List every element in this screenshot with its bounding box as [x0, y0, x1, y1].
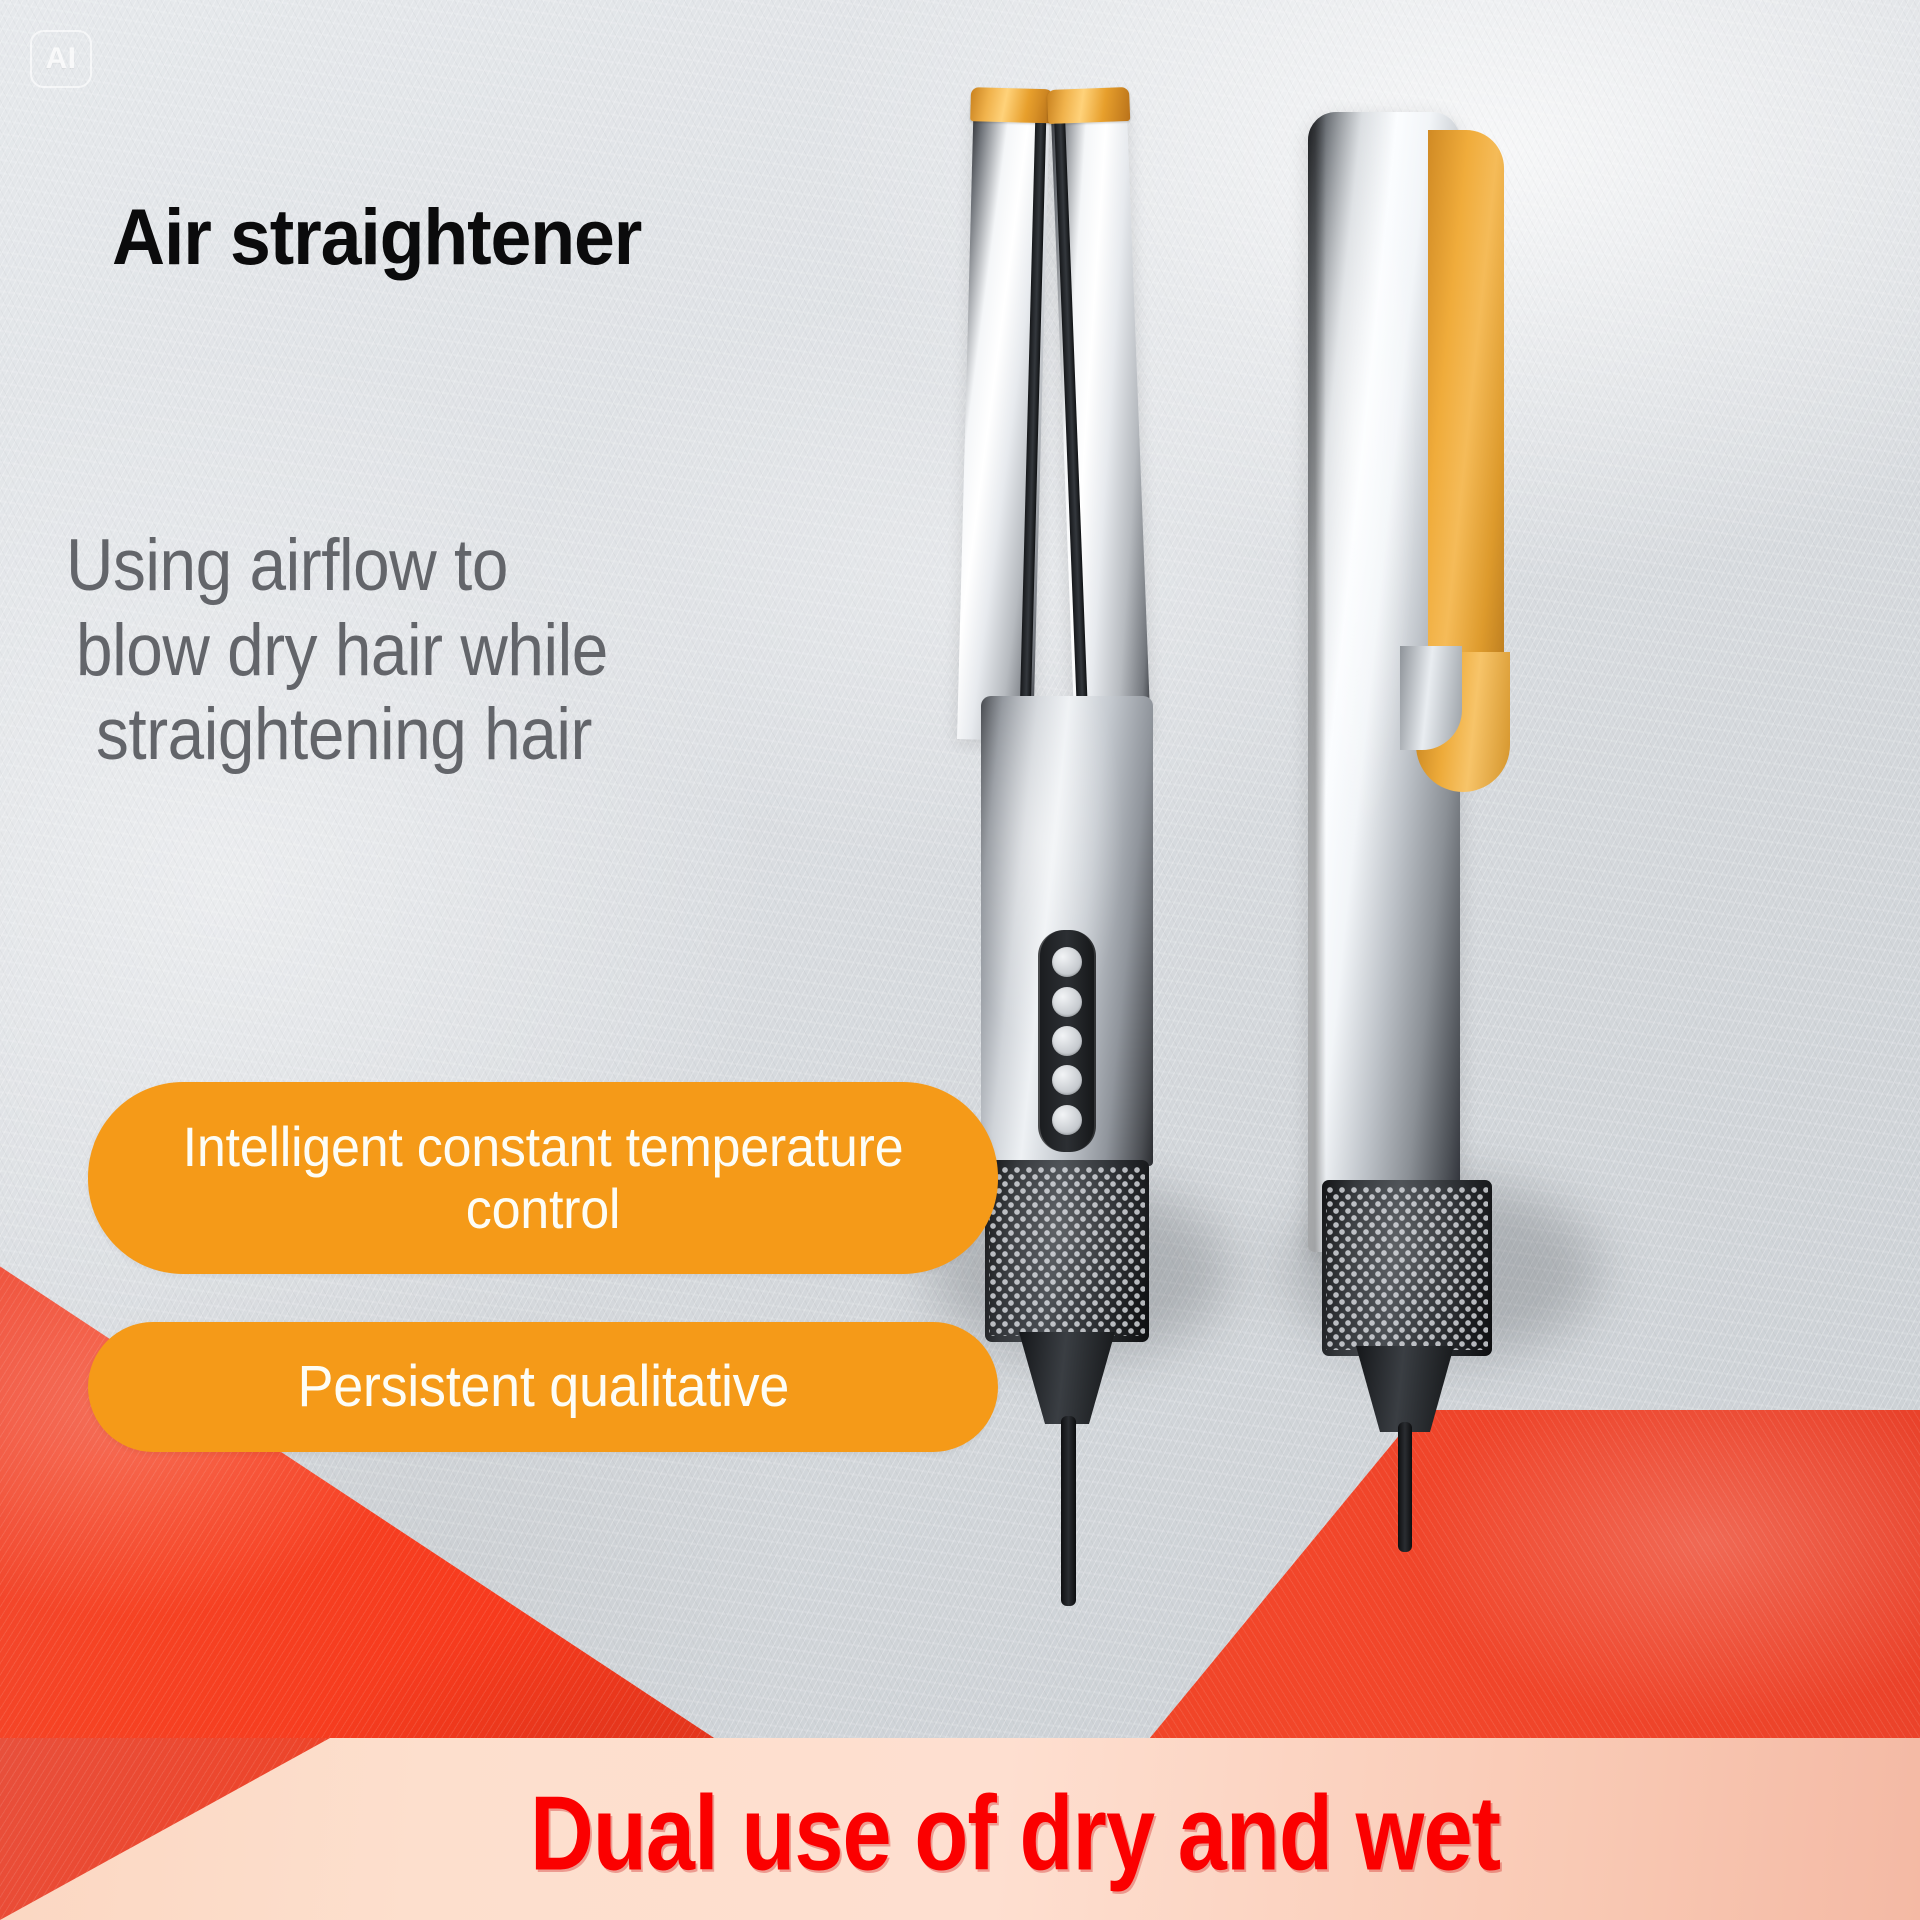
subtitle-line-2: blow dry hair while: [76, 609, 823, 694]
straightener-arm-right: [1050, 99, 1151, 741]
control-button-dot[interactable]: [1052, 1026, 1082, 1056]
product-banner: AI Air straightene: [0, 0, 1920, 1920]
control-button-dot[interactable]: [1052, 987, 1082, 1017]
power-cord: [1061, 1416, 1076, 1606]
control-button-dot[interactable]: [1052, 1105, 1082, 1135]
control-button-dot[interactable]: [1052, 947, 1082, 977]
open-hair-straightener: [955, 100, 1205, 1420]
page-title: Air straightener: [112, 191, 641, 283]
ai-watermark-icon: AI: [30, 30, 92, 88]
control-button-strip[interactable]: [1038, 930, 1096, 1152]
heating-plate-edge: [1019, 123, 1046, 741]
gold-clip-panel: [1428, 130, 1504, 715]
subtitle-block: Using airflow to blow dry hair while str…: [66, 524, 906, 778]
gold-tip-icon: [1047, 87, 1130, 124]
feature-badge-label: Intelligent constant temperature control: [120, 1116, 966, 1239]
feature-badge-label: Persistent qualitative: [273, 1355, 813, 1419]
subtitle-line-1: Using airflow to: [66, 524, 822, 609]
feature-badge-quality: Persistent qualitative: [88, 1322, 998, 1452]
cord-nozzle: [1019, 1332, 1115, 1424]
straightener-arm-left: [957, 99, 1050, 741]
footer-tagline: Dual use of dry and wet: [530, 1774, 1500, 1895]
subtitle-line-3: straightening hair: [96, 693, 825, 778]
gold-hook-icon: [1416, 652, 1510, 792]
heating-plate-edge: [1054, 123, 1089, 741]
air-vent-mesh: [1322, 1180, 1492, 1356]
air-vent-mesh: [985, 1160, 1149, 1342]
control-button-dot[interactable]: [1052, 1065, 1082, 1095]
cord-nozzle: [1356, 1346, 1454, 1432]
closed-hair-straightener: [1300, 112, 1560, 1442]
ai-watermark-label: AI: [46, 42, 77, 76]
power-cord: [1398, 1422, 1412, 1552]
gold-tip-icon: [970, 87, 1053, 123]
feature-badge-temperature: Intelligent constant temperature control: [88, 1082, 998, 1274]
